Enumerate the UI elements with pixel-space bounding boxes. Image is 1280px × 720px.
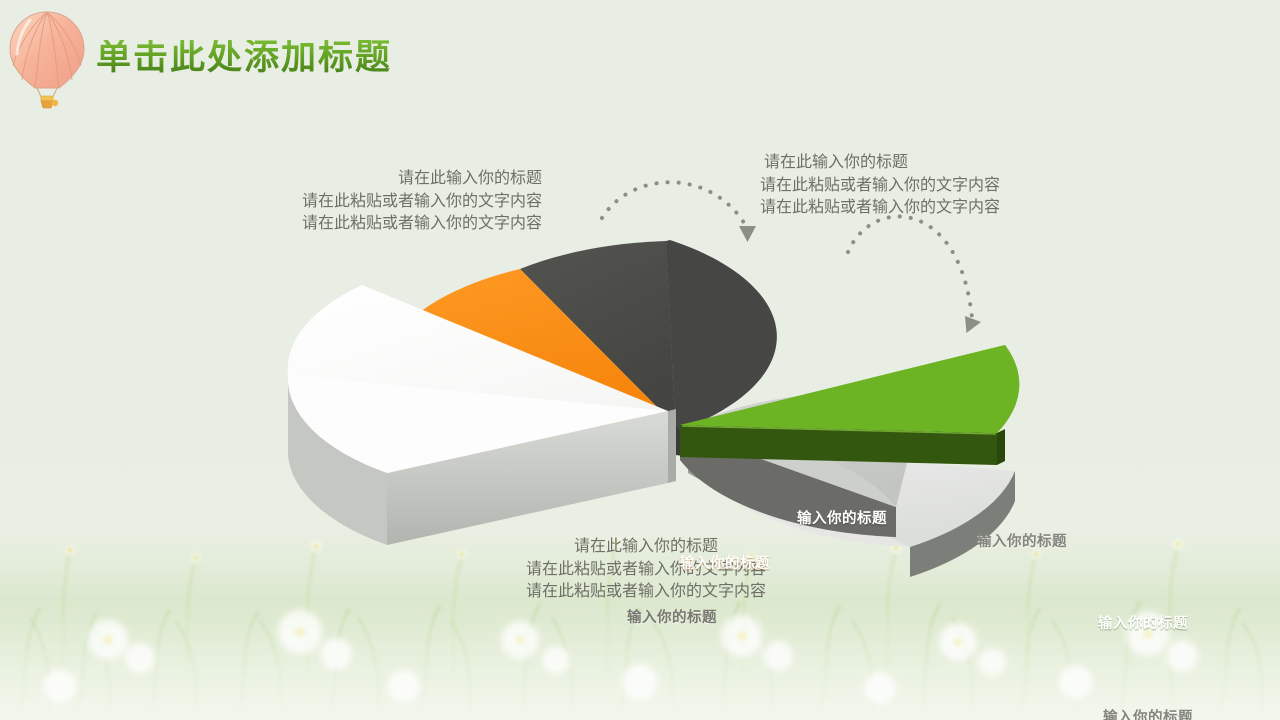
slide-header: 单击此处添加标题 bbox=[0, 0, 1280, 120]
hot-air-balloon-icon bbox=[4, 8, 90, 110]
pie-slice-label-green: 输入你的标题 bbox=[1098, 612, 1188, 633]
slide: 单击此处添加标题 请在此输入你的标题 请在此粘贴或者输入你的文字内容 请在此粘贴… bbox=[0, 0, 1280, 720]
arrow-top-left-to-dark-slice-path bbox=[602, 182, 746, 226]
pie-chart-3d: 输入你的标题 输入你的标题 输入你的标题 输入你的标题 输入你的标题 输入你的标… bbox=[270, 225, 1030, 615]
pie-slice-label-dark: 输入你的标题 bbox=[797, 507, 887, 528]
callout-top-left-line1: 请在此粘贴或者输入你的文字内容 bbox=[302, 193, 542, 210]
page-title: 单击此处添加标题 bbox=[96, 40, 392, 75]
pie-slice-label-gray-upper-right: 输入你的标题 bbox=[977, 530, 1067, 551]
pie-slice-label-gray-lower-right: 输入你的标题 bbox=[1103, 706, 1193, 720]
pie-slice-label-white: 输入你的标题 bbox=[627, 606, 717, 627]
callout-top-left-title: 请在此输入你的标题 bbox=[302, 168, 542, 191]
pie-slice-label-orange: 输入你的标题 bbox=[680, 552, 770, 573]
